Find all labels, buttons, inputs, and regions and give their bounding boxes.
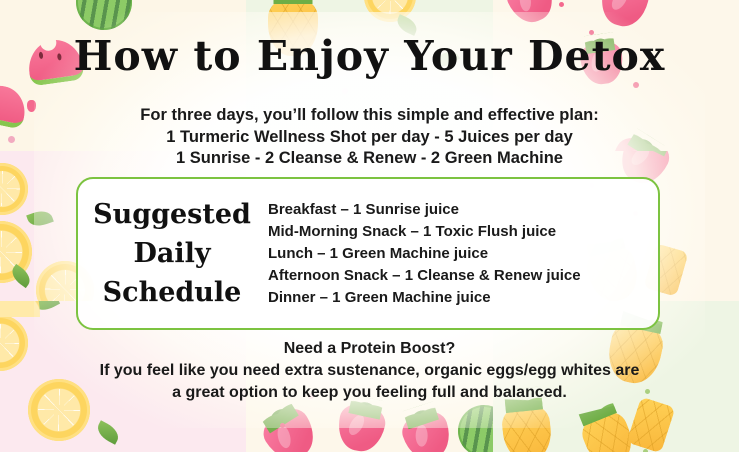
protein-boost-heading: Need a Protein Boost? — [0, 338, 739, 360]
intro-line-3: 1 Sunrise - 2 Cleanse & Renew - 2 Green … — [0, 148, 739, 170]
schedule-item: Breakfast – 1 Sunrise juice — [268, 199, 658, 221]
schedule-label-line-3: Schedule — [84, 273, 260, 312]
intro-block: For three days, you’ll follow this simpl… — [0, 105, 739, 170]
page-title: How to Enjoy Your Detox — [0, 36, 739, 77]
poster-content: How to Enjoy Your Detox For three days, … — [0, 0, 739, 452]
schedule-label-line-1: Suggested — [84, 195, 260, 234]
protein-boost-line-1: If you feel like you need extra sustenan… — [0, 360, 739, 382]
suggested-daily-schedule-box: Suggested Daily Schedule Breakfast – 1 S… — [76, 177, 660, 330]
intro-line-2: 1 Turmeric Wellness Shot per day - 5 Jui… — [0, 127, 739, 149]
protein-boost-block: Need a Protein Boost? If you feel like y… — [0, 338, 739, 404]
schedule-label: Suggested Daily Schedule — [78, 195, 260, 312]
schedule-item: Mid-Morning Snack – 1 Toxic Flush juice — [268, 221, 658, 243]
intro-line-1: For three days, you’ll follow this simpl… — [0, 105, 739, 127]
schedule-item: Dinner – 1 Green Machine juice — [268, 287, 658, 309]
schedule-list: Breakfast – 1 Sunrise juice Mid-Morning … — [260, 199, 658, 309]
detox-instructions-poster: How to Enjoy Your Detox For three days, … — [0, 0, 739, 452]
protein-boost-line-2: a great option to keep you feeling full … — [0, 382, 739, 404]
schedule-label-line-2: Daily — [84, 234, 260, 273]
schedule-item: Lunch – 1 Green Machine juice — [268, 243, 658, 265]
schedule-item: Afternoon Snack – 1 Cleanse & Renew juic… — [268, 265, 658, 287]
